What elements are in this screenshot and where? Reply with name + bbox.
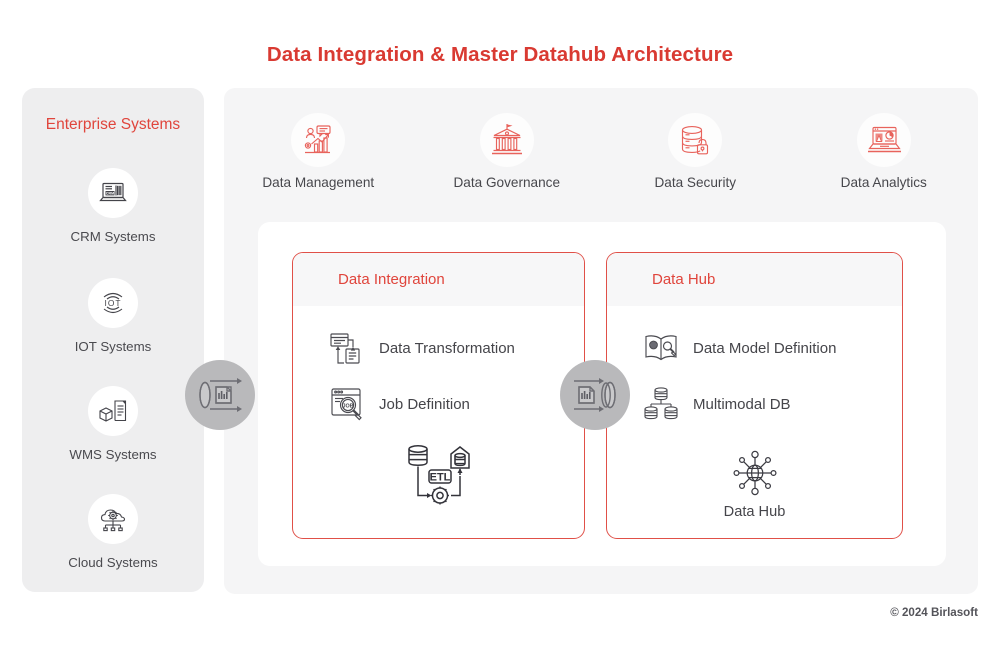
sidebar-item-crm[interactable]: CRM CRM Systems <box>22 168 204 244</box>
footer-copyright: © 2024 Birlasoft <box>890 606 978 619</box>
capability-label: Data Governance <box>413 175 602 190</box>
item-job-definition[interactable]: JOB Job Definition <box>293 384 584 424</box>
card-body: Data Model Definition <box>607 306 902 539</box>
job-definition-icon: JOB <box>325 384 369 424</box>
data-transformation-icon <box>325 328 369 368</box>
data-governance-bank-icon <box>480 113 534 167</box>
card-title: Data Integration <box>338 271 445 288</box>
svg-text:JOB: JOB <box>342 404 353 410</box>
etl-pipeline-icon: ETL <box>293 440 584 514</box>
svg-text:IOT: IOT <box>105 298 122 308</box>
data-model-book-icon <box>639 328 683 368</box>
data-management-icon <box>291 113 345 167</box>
svg-text:CRM: CRM <box>106 192 114 196</box>
capability-label: Data Management <box>224 175 413 190</box>
sidebar-item-label: CRM Systems <box>22 229 204 244</box>
item-multimodal-db[interactable]: Multimodal DB <box>607 384 902 424</box>
sidebar-item-wms[interactable]: WMS Systems <box>22 386 204 462</box>
capability-label: Data Security <box>601 175 790 190</box>
data-hub-globe-icon <box>607 446 902 500</box>
data-analytics-laptop-icon <box>857 113 911 167</box>
multimodal-db-icon <box>639 384 683 424</box>
sidebar-item-label: IOT Systems <box>22 339 204 354</box>
capability-data-management[interactable]: Data Management <box>224 113 413 190</box>
data-transfer-out-icon <box>193 373 247 417</box>
crm-laptop-icon: CRM <box>88 168 138 218</box>
item-label: Data Model Definition <box>693 340 836 357</box>
card-header: Data Hub <box>607 253 902 306</box>
item-data-model-definition[interactable]: Data Model Definition <box>607 328 902 368</box>
item-data-transformation[interactable]: Data Transformation <box>293 328 584 368</box>
cloud-network-icon <box>88 494 138 544</box>
item-label: Multimodal DB <box>693 396 791 413</box>
connector-right-data-flow <box>560 360 630 430</box>
card-body: Data Transformation JOB <box>293 306 584 539</box>
card-title: Data Hub <box>652 271 715 288</box>
sidebar-item-cloud[interactable]: Cloud Systems <box>22 494 204 570</box>
svg-text:ETL: ETL <box>429 471 450 483</box>
feature-data-hub[interactable]: Data Hub <box>607 446 902 520</box>
capability-data-governance[interactable]: Data Governance <box>413 113 602 190</box>
sidebar-item-iot[interactable]: IOT IOT Systems <box>22 278 204 354</box>
item-label: Data Transformation <box>379 340 515 357</box>
data-security-lock-icon <box>668 113 722 167</box>
connector-left-data-flow <box>185 360 255 430</box>
capability-label: Data Analytics <box>790 175 979 190</box>
data-transfer-in-icon <box>568 373 622 417</box>
card-data-integration: Data Integration <box>292 252 585 539</box>
capability-row: Data Management Data Governanc <box>224 113 978 190</box>
page-title: Data Integration & Master Datahub Archit… <box>0 43 1000 67</box>
sidebar-heading: Enterprise Systems <box>22 116 204 134</box>
capability-data-security[interactable]: Data Security <box>601 113 790 190</box>
item-label: Job Definition <box>379 396 470 413</box>
architecture-diagram: Data Integration & Master Datahub Archit… <box>0 0 1000 650</box>
feature-label: Data Hub <box>607 504 902 520</box>
card-data-hub: Data Hub Data Model Definition <box>606 252 903 539</box>
feature-etl[interactable]: ETL <box>293 440 584 514</box>
sidebar-item-label: WMS Systems <box>22 447 204 462</box>
iot-signal-icon: IOT <box>88 278 138 328</box>
sidebar-item-label: Cloud Systems <box>22 555 204 570</box>
capability-data-analytics[interactable]: Data Analytics <box>790 113 979 190</box>
card-header: Data Integration <box>293 253 584 306</box>
wms-box-document-icon <box>88 386 138 436</box>
